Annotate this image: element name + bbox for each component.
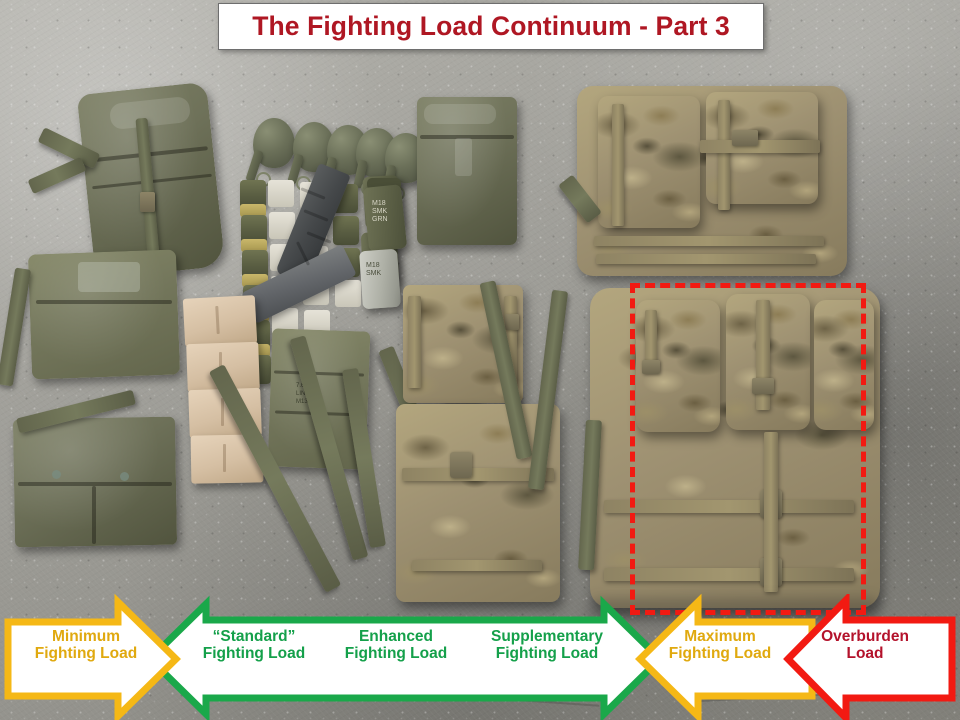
ammo-box xyxy=(183,295,257,347)
od-map-case-snap xyxy=(120,472,129,481)
40mm-round xyxy=(333,216,359,245)
slide-canvas: M18SMKGRN M18SMK 7.62MMLINKEDM13 xyxy=(0,0,960,720)
ammo-box-marking xyxy=(223,444,226,472)
title-box: The Fighting Load Continuum - Part 3 xyxy=(218,3,764,50)
arrow-green-continuum xyxy=(150,604,660,714)
smoke-canister xyxy=(359,249,401,310)
od-utility-pouch-highlight xyxy=(424,104,496,124)
page-title: The Fighting Load Continuum - Part 3 xyxy=(252,11,730,42)
ammo-box-marking xyxy=(221,398,224,426)
smoke-canister-label: M18SMK xyxy=(366,262,381,278)
arrow-yellow-minimum xyxy=(8,602,176,716)
40mm-round-white xyxy=(335,280,361,307)
smoke-canister-label: M18SMKGRN xyxy=(372,200,388,224)
arrow-red-overburden xyxy=(788,600,952,718)
assault-pack-compression-strap xyxy=(700,140,820,153)
od-claymore-bag-flap xyxy=(36,300,172,304)
multicam-pouch-strap xyxy=(408,296,421,388)
assault-pack-webbing xyxy=(594,236,824,246)
assault-pack-strap xyxy=(612,104,624,226)
od-map-case-snap xyxy=(52,470,61,479)
od-butt-pack-buckle xyxy=(140,192,155,212)
assault-pack-strap xyxy=(718,100,730,210)
assault-pack-buckle xyxy=(732,130,758,146)
od-claymore-bag-window xyxy=(78,262,140,292)
overburden-highlight-box xyxy=(630,283,866,615)
multicam-medic-bag-buckle xyxy=(450,452,472,478)
od-map-case-divider xyxy=(92,486,96,544)
assault-pack-webbing xyxy=(596,254,816,264)
multicam-pouch-buckle xyxy=(505,314,519,330)
multicam-medic-bag-strap xyxy=(412,560,542,571)
od-utility-pouch-tab xyxy=(455,138,472,176)
fighting-load-continuum-banner: Minimum Fighting Load “Standard” Fightin… xyxy=(0,594,960,720)
40mm-round-white xyxy=(268,180,294,207)
